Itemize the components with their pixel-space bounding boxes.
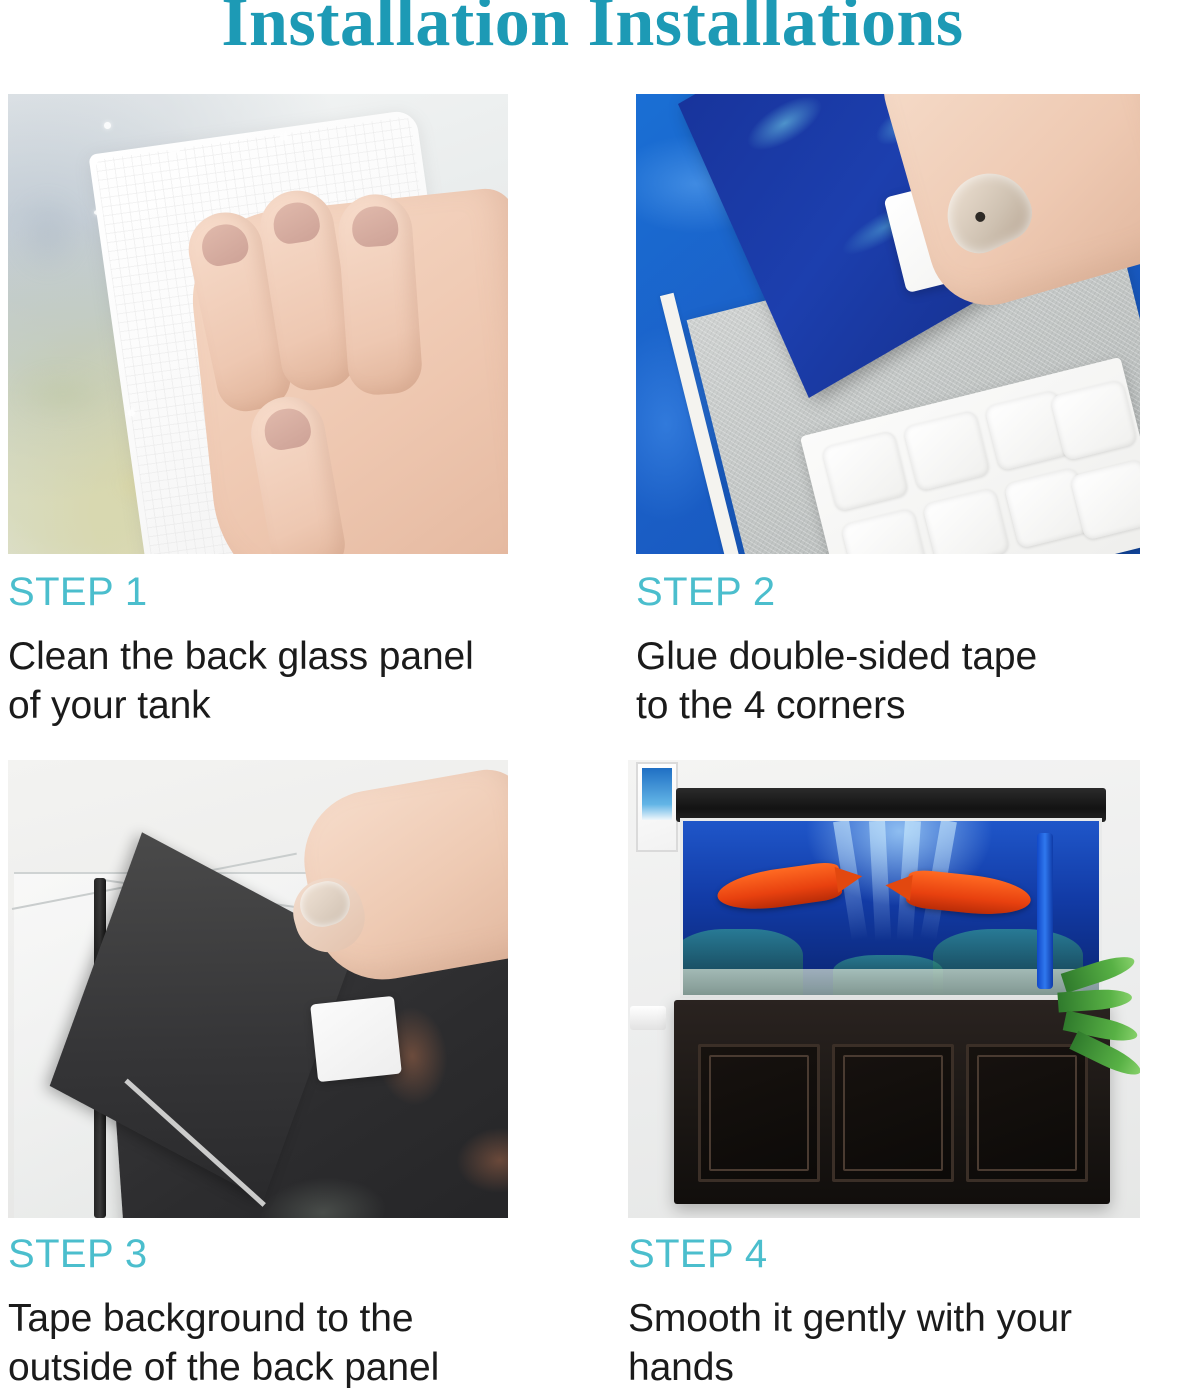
fingernail-icon xyxy=(270,199,322,246)
step-4-description-line-1: Smooth it gently with your xyxy=(628,1294,1183,1343)
water-droplet xyxy=(280,134,288,140)
step-4-label: STEP 4 xyxy=(628,1232,768,1276)
step-4-description-line-2: hands xyxy=(628,1343,1183,1392)
aquarium-stand-cabinet xyxy=(674,1000,1110,1204)
adhesive-pad xyxy=(1050,379,1138,461)
aquarium-tank xyxy=(680,818,1102,998)
fingernail-icon xyxy=(198,220,251,269)
blue-filter-pipe xyxy=(1037,833,1053,989)
step-1-label: STEP 1 xyxy=(8,570,148,614)
cabinet-door xyxy=(832,1044,954,1182)
adhesive-pad xyxy=(841,508,929,554)
step-2-label: STEP 2 xyxy=(636,570,776,614)
cabinet-door xyxy=(698,1044,820,1182)
step-2-description-line-2: to the 4 corners xyxy=(636,681,1181,730)
step-2-photo xyxy=(636,94,1140,554)
decorated-fingernail-icon xyxy=(934,159,1042,262)
step-1-description-line-2: of your tank xyxy=(8,681,548,730)
step-1-photo xyxy=(8,94,508,554)
plant-leaf xyxy=(1061,951,1138,993)
fingernail-icon xyxy=(261,405,313,452)
adhesive-pad xyxy=(922,487,1010,554)
water-droplet xyxy=(128,410,135,416)
step-3-description-line-1: Tape background to the xyxy=(8,1294,553,1343)
hand xyxy=(184,186,508,554)
installation-instructions-page: Installation Installations STEP 1 Clean … xyxy=(0,0,1185,1398)
water-droplet xyxy=(94,210,102,215)
water-droplet xyxy=(168,148,180,153)
step-3-description-line-2: outside of the back panel xyxy=(8,1343,553,1392)
fingernail-icon xyxy=(351,205,400,248)
adhesive-pad xyxy=(310,996,402,1082)
adhesive-pad xyxy=(903,410,991,492)
step-3-photo xyxy=(8,760,508,1218)
water-droplet xyxy=(148,166,157,172)
page-title: Installation Installations xyxy=(0,0,1185,60)
wall-picture-frame xyxy=(636,762,678,852)
step-4-photo xyxy=(628,760,1140,1218)
water-droplet xyxy=(104,122,111,129)
step-2-description-line-1: Glue double-sided tape xyxy=(636,632,1181,681)
step-1-description-line-1: Clean the back glass panel xyxy=(8,632,548,681)
finger-icon xyxy=(336,192,424,397)
house-plant xyxy=(1052,956,1140,1076)
side-table xyxy=(630,1006,666,1030)
aquarium-hood xyxy=(676,788,1106,822)
plant-leaf xyxy=(1057,987,1132,1012)
step-3-label: STEP 3 xyxy=(8,1232,148,1276)
finger-icon xyxy=(245,391,349,554)
adhesive-pad xyxy=(821,430,909,512)
